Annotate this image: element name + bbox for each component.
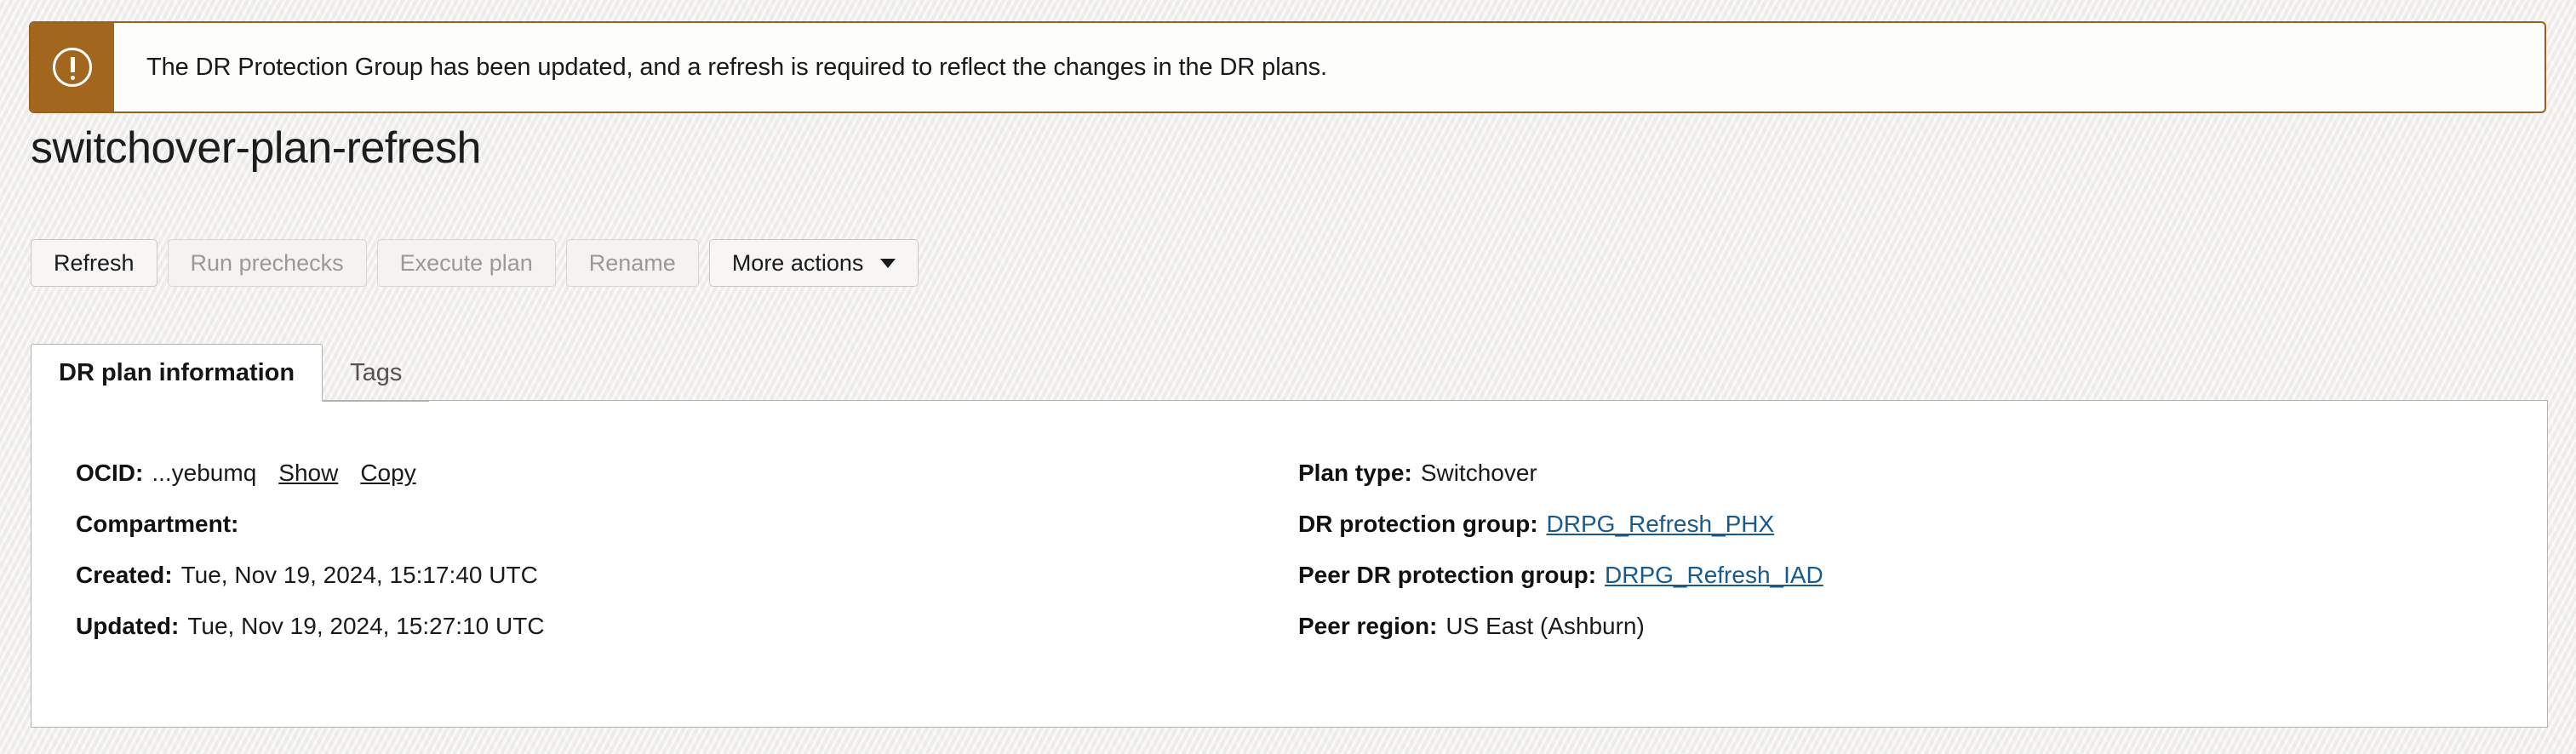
rename-button-label: Rename (589, 250, 676, 277)
banner-icon-strip (31, 23, 114, 111)
more-actions-button[interactable]: More actions (709, 239, 919, 287)
compartment-label: Compartment: (76, 512, 238, 536)
rename-button[interactable]: Rename (566, 239, 699, 287)
dr-protection-group-label: DR protection group: (1298, 512, 1538, 536)
banner-message: The DR Protection Group has been updated… (114, 23, 2545, 111)
detail-column-left: OCID: ...yebumq Show Copy Compartment: C… (31, 448, 1249, 652)
plan-type-value: Switchover (1421, 461, 1537, 485)
tab-tags-label: Tags (350, 359, 402, 387)
run-prechecks-button-label: Run prechecks (191, 250, 344, 277)
refresh-button-label: Refresh (54, 250, 135, 277)
peer-region-label: Peer region: (1298, 614, 1437, 638)
plan-type-label: Plan type: (1298, 461, 1412, 485)
tab-bar: DR plan information Tags (31, 344, 429, 401)
page-title: switchover-plan-refresh (31, 124, 481, 173)
detail-row-peer-region: Peer region: US East (Ashburn) (1298, 601, 2441, 652)
ocid-label: OCID: (76, 461, 143, 485)
detail-row-peer-dr-protection-group: Peer DR protection group: DRPG_Refresh_I… (1298, 550, 2441, 601)
warning-circle-icon (53, 48, 92, 87)
execute-plan-button[interactable]: Execute plan (377, 239, 556, 287)
more-actions-button-label: More actions (732, 250, 864, 277)
created-label: Created: (76, 563, 173, 587)
created-value: Tue, Nov 19, 2024, 15:17:40 UTC (181, 563, 538, 587)
detail-row-created: Created: Tue, Nov 19, 2024, 15:17:40 UTC (76, 550, 1249, 601)
updated-label: Updated: (76, 614, 179, 638)
detail-row-dr-protection-group: DR protection group: DRPG_Refresh_PHX (1298, 499, 2441, 550)
refresh-button[interactable]: Refresh (31, 239, 157, 287)
warning-banner: The DR Protection Group has been updated… (29, 21, 2546, 113)
copy-ocid-link[interactable]: Copy (360, 461, 415, 485)
peer-region-value: US East (Ashburn) (1445, 614, 1644, 638)
chevron-down-icon (880, 259, 896, 268)
peer-dr-protection-group-label: Peer DR protection group: (1298, 563, 1596, 587)
dr-plan-information-panel: OCID: ...yebumq Show Copy Compartment: C… (31, 401, 2548, 728)
execute-plan-button-label: Execute plan (400, 250, 533, 277)
show-ocid-link[interactable]: Show (278, 461, 338, 485)
dr-protection-group-link[interactable]: DRPG_Refresh_PHX (1547, 512, 1775, 536)
detail-column-right: Plan type: Switchover DR protection grou… (1249, 448, 2441, 652)
detail-grid: OCID: ...yebumq Show Copy Compartment: C… (31, 401, 2547, 652)
tab-dr-plan-information[interactable]: DR plan information (31, 344, 323, 402)
tab-tags[interactable]: Tags (323, 346, 429, 402)
detail-row-updated: Updated: Tue, Nov 19, 2024, 15:27:10 UTC (76, 601, 1249, 652)
detail-row-ocid: OCID: ...yebumq Show Copy (76, 448, 1249, 499)
run-prechecks-button[interactable]: Run prechecks (168, 239, 367, 287)
action-toolbar: Refresh Run prechecks Execute plan Renam… (31, 239, 919, 287)
ocid-value: ...yebumq (152, 461, 256, 485)
detail-row-plan-type: Plan type: Switchover (1298, 448, 2441, 499)
tab-dr-plan-information-label: DR plan information (59, 359, 295, 387)
updated-value: Tue, Nov 19, 2024, 15:27:10 UTC (187, 614, 544, 638)
peer-dr-protection-group-link[interactable]: DRPG_Refresh_IAD (1605, 563, 1823, 587)
detail-row-compartment: Compartment: (76, 499, 1249, 550)
